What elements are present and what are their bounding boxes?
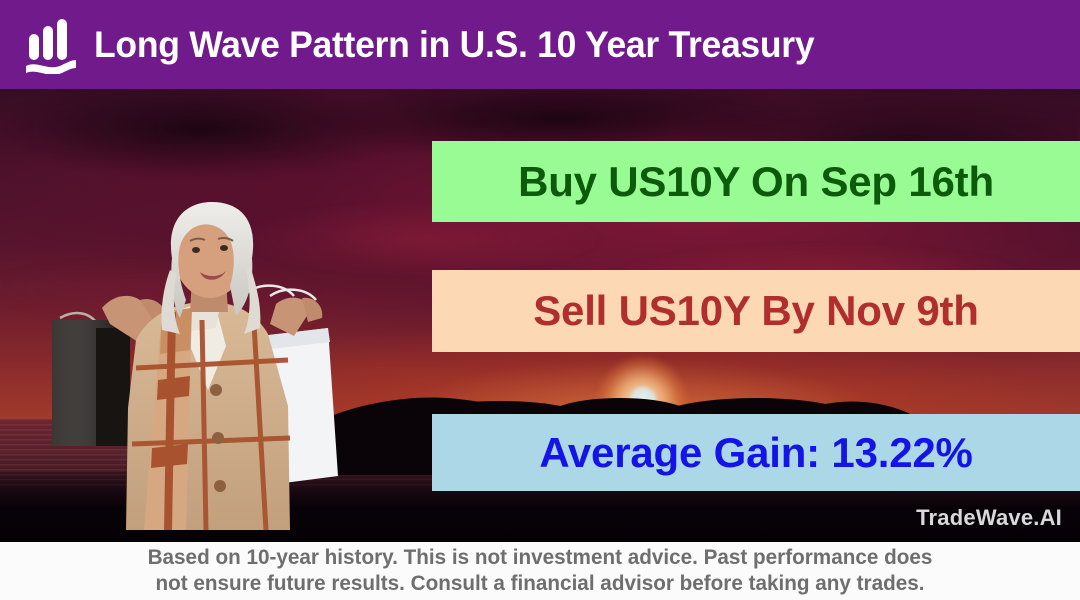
disclaimer-footer: Based on 10-year history. This is not in… xyxy=(0,542,1080,600)
bar-chart-wave-logo-icon xyxy=(22,16,80,74)
disclaimer-line-2: not ensure future results. Consult a fin… xyxy=(18,571,1062,597)
callout-buy-text: Buy US10Y On Sep 16th xyxy=(518,158,994,206)
woman-with-shopping-bags-image xyxy=(40,200,380,542)
callout-gain-text: Average Gain: 13.22% xyxy=(539,429,972,477)
brand-watermark: TradeWave.AI xyxy=(916,505,1062,531)
callout-buy-signal: Buy US10Y On Sep 16th xyxy=(432,141,1080,222)
dark-shopping-bag xyxy=(52,313,130,446)
header-bar: Long Wave Pattern in U.S. 10 Year Treasu… xyxy=(0,0,1080,89)
promo-poster: Long Wave Pattern in U.S. 10 Year Treasu… xyxy=(0,0,1080,600)
callout-average-gain: Average Gain: 13.22% xyxy=(432,414,1080,491)
page-title: Long Wave Pattern in U.S. 10 Year Treasu… xyxy=(94,24,814,66)
disclaimer-line-1: Based on 10-year history. This is not in… xyxy=(18,545,1062,571)
callout-sell-signal: Sell US10Y By Nov 9th xyxy=(432,270,1080,352)
callout-sell-text: Sell US10Y By Nov 9th xyxy=(533,287,979,335)
